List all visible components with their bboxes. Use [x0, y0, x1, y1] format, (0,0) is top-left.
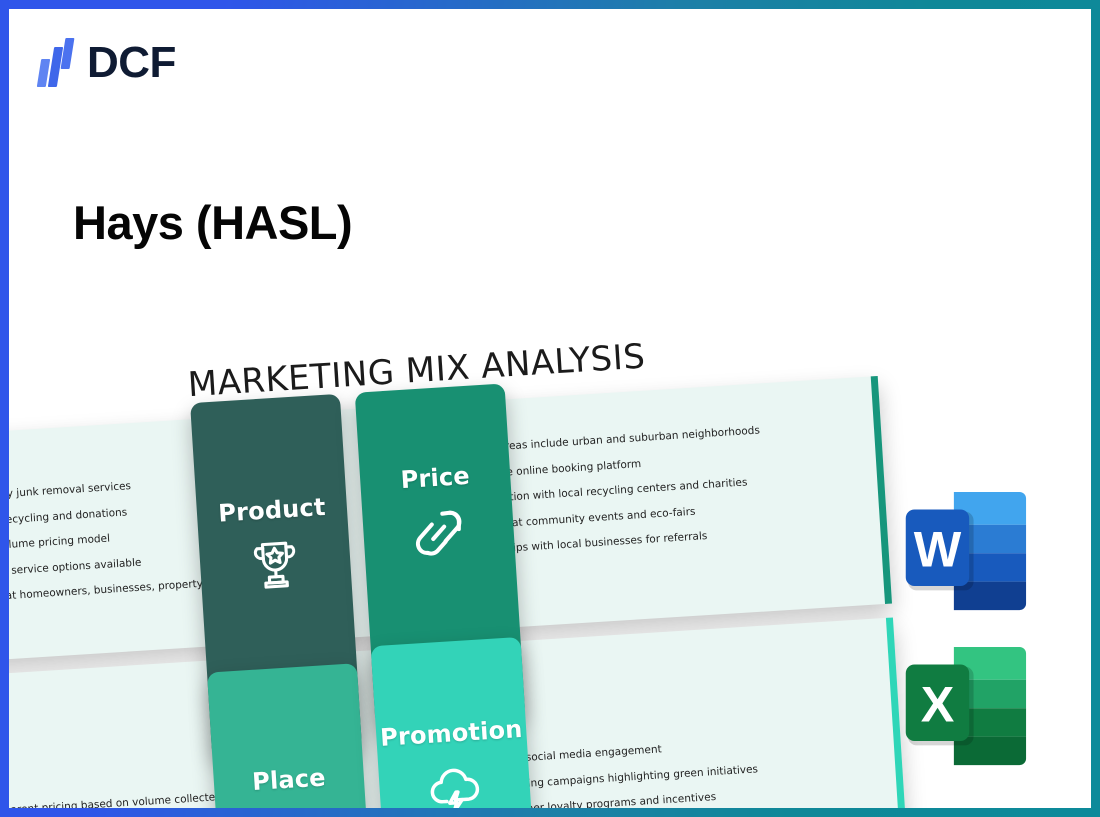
svg-text:W: W — [914, 520, 962, 577]
list-item: Marketing campaigns highlighting green i… — [491, 764, 758, 791]
chain-link-icon — [406, 500, 472, 566]
tile-label-place: Place — [251, 763, 326, 796]
tile-label-price: Price — [400, 462, 471, 494]
tile-label-product: Product — [218, 493, 327, 528]
bullet-list-promotion: Active social media engagement Marketing… — [490, 738, 764, 808]
storm-cloud-icon — [422, 755, 488, 808]
trophy-icon — [243, 532, 309, 598]
dcf-bars-logo-icon — [37, 37, 77, 89]
page-title: Hays (HASL) — [73, 195, 352, 250]
chart-wave-icon — [259, 802, 325, 808]
brand-logo[interactable]: DCF — [37, 37, 176, 89]
list-item: Active social media engagement — [490, 738, 757, 765]
tile-place[interactable]: Place — [207, 663, 378, 808]
brand-name: DCF — [87, 41, 176, 85]
microsoft-word-icon[interactable]: W — [897, 481, 1037, 621]
marketing-mix-infographic: MARKETING MIX ANALYSIS Eco-friendly junk… — [9, 334, 901, 808]
tile-label-promotion: Promotion — [379, 715, 523, 752]
slide-page: DCF Hays (HASL) MARKETING MIX ANALYSIS E… — [0, 0, 1100, 817]
tile-promotion[interactable]: Promotion — [371, 637, 541, 808]
marketing-mix-grid: Eco-friendly junk removal services Focus… — [9, 376, 901, 808]
microsoft-excel-icon[interactable]: X — [897, 636, 1037, 776]
slide-canvas: DCF Hays (HASL) MARKETING MIX ANALYSIS E… — [9, 9, 1091, 808]
svg-text:X: X — [921, 675, 955, 732]
list-item: Customer loyalty programs and incentives — [493, 789, 760, 808]
